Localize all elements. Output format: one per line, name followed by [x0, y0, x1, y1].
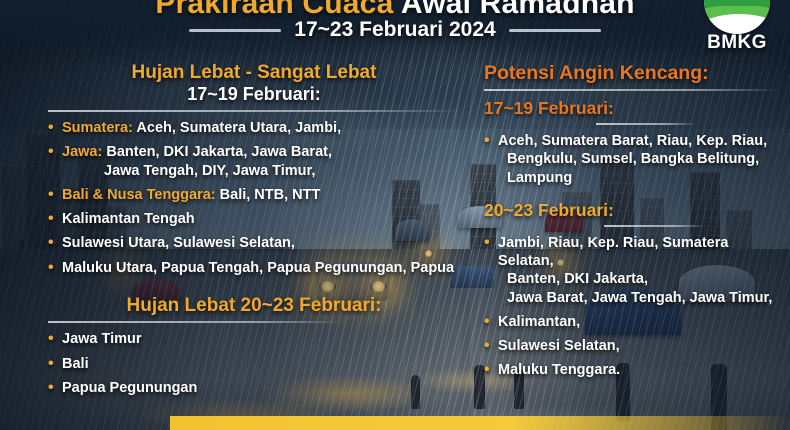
divider — [484, 89, 780, 91]
heavy-rain-date: 17~19 Februari: — [48, 84, 460, 106]
strong-wind-early-date: 17~19 Februari: — [484, 98, 780, 119]
list-item: Kalimantan Tengah — [48, 210, 460, 228]
region-detail: Bali — [62, 356, 89, 372]
right-column: Potensi Angin Kencang: 17~19 Februari: A… — [484, 62, 780, 393]
subtitle-rule-right — [509, 29, 601, 32]
list-item: Maluku Utara, Papua Tengah, Papua Pegunu… — [48, 259, 460, 277]
region-label: Bali & Nusa Tenggara: — [62, 187, 216, 203]
divider — [604, 225, 705, 227]
list-item: Bali & Nusa Tenggara: Bali, NTB, NTT — [48, 186, 460, 204]
region-detail: Aceh, Sumatera Barat, Riau, Kep. Riau, — [498, 133, 767, 149]
header: Prakiraan Cuaca Awal Ramadhan 17~23 Febr… — [0, 0, 790, 56]
list-item: Aceh, Sumatera Barat, Riau, Kep. Riau, B… — [484, 132, 780, 187]
region-detail: Maluku Utara, Papua Tengah, Papua Pegunu… — [62, 260, 454, 276]
region-detail: Sulawesi Utara, Sulawesi Selatan, — [62, 235, 295, 251]
region-detail-cont: Jawa Barat, Jawa Tengah, Jawa Timur, — [498, 289, 780, 307]
region-detail-cont: Lampung — [498, 169, 780, 187]
region-detail: Jawa Timur — [62, 331, 142, 347]
list-item: Sumatera: Aceh, Sumatera Utara, Jambi, — [48, 119, 460, 137]
title-gold-part: Prakiraan Cuaca — [155, 0, 393, 20]
strong-wind-early-section: 17~19 Februari: Aceh, Sumatera Barat, Ri… — [484, 98, 780, 187]
divider — [48, 110, 460, 112]
list-item: Sulawesi Utara, Sulawesi Selatan, — [48, 234, 460, 252]
bottom-accent-bar — [170, 416, 790, 430]
subtitle-row: 17~23 Februari 2024 — [0, 18, 790, 42]
region-label: Sumatera: — [62, 120, 133, 136]
strong-wind-early-list: Aceh, Sumatera Barat, Riau, Kep. Riau, B… — [484, 132, 780, 187]
region-detail: Papua Pegunungan — [62, 380, 197, 396]
region-detail-cont: Jawa Tengah, DIY, Jawa Timur, — [62, 162, 460, 180]
list-item: Sulawesi Selatan, — [484, 337, 780, 355]
heavy-rain-late-list: Jawa Timur Bali Papua Pegunungan — [48, 330, 460, 397]
strong-wind-late-section: 20~23 Februari: Jambi, Riau, Kep. Riau, … — [484, 200, 780, 380]
heavy-rain-section: Hujan Lebat - Sangat Lebat 17~19 Februar… — [48, 62, 460, 277]
region-detail: Aceh, Sumatera Utara, Jambi, — [133, 120, 341, 136]
bmkg-shield-icon — [704, 0, 770, 34]
region-label: Jawa: — [62, 144, 102, 160]
region-detail: Banten, DKI Jakarta, Jawa Barat, — [102, 144, 332, 160]
region-detail: Jambi, Riau, Kep. Riau, Sumatera Selatan… — [498, 235, 728, 269]
subtitle-rule-left — [189, 29, 281, 32]
bmkg-logo-text: BMKG — [698, 32, 776, 54]
list-item: Maluku Tenggara. — [484, 361, 780, 379]
list-item: Bali — [48, 355, 460, 373]
region-detail: Kalimantan, — [498, 314, 580, 330]
divider — [596, 123, 697, 125]
list-item: Jambi, Riau, Kep. Riau, Sumatera Selatan… — [484, 234, 780, 307]
region-detail-cont: Banten, DKI Jakarta, — [498, 270, 780, 288]
heavy-rain-late-section: Hujan Lebat 20~23 Februari: Jawa Timur B… — [48, 295, 460, 397]
heavy-rain-title: Hujan Lebat - Sangat Lebat — [48, 62, 460, 84]
region-detail: Kalimantan Tengah — [62, 211, 195, 227]
date-range-subtitle: 17~23 Februari 2024 — [294, 18, 495, 42]
region-detail: Sulawesi Selatan, — [498, 338, 620, 354]
left-column: Hujan Lebat - Sangat Lebat 17~19 Februar… — [48, 62, 460, 410]
region-detail: Bali, NTB, NTT — [216, 187, 321, 203]
region-detail: Maluku Tenggara. — [498, 362, 620, 378]
strong-wind-title: Potensi Angin Kencang: — [484, 62, 780, 85]
list-item: Jawa: Banten, DKI Jakarta, Jawa Barat, J… — [48, 143, 460, 180]
heavy-rain-list: Sumatera: Aceh, Sumatera Utara, Jambi, J… — [48, 119, 460, 277]
strong-wind-late-date: 20~23 Februari: — [484, 200, 780, 221]
list-item: Kalimantan, — [484, 313, 780, 331]
list-item: Jawa Timur — [48, 330, 460, 348]
strong-wind-late-list: Jambi, Riau, Kep. Riau, Sumatera Selatan… — [484, 234, 780, 380]
title-white-part: Awal Ramadhan — [401, 0, 635, 20]
bmkg-logo: BMKG — [698, 0, 776, 56]
list-item: Papua Pegunungan — [48, 379, 460, 397]
heavy-rain-late-title: Hujan Lebat 20~23 Februari: — [48, 295, 460, 317]
divider — [48, 321, 345, 323]
region-detail-cont: Bengkulu, Sumsel, Bangka Belitung, — [498, 150, 780, 168]
